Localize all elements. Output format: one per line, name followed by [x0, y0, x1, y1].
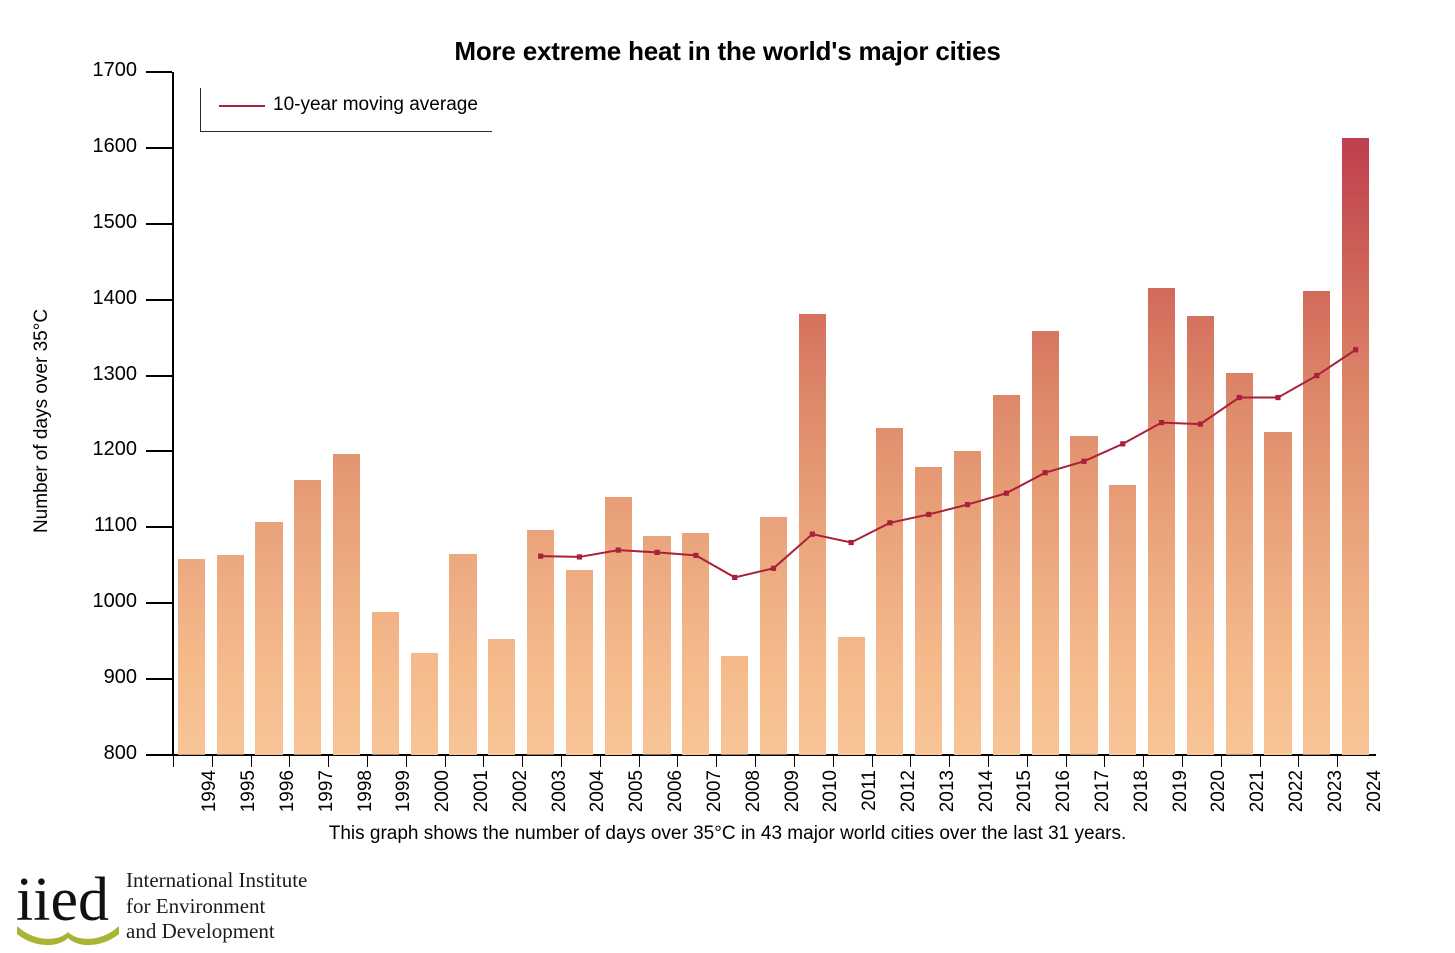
x-tick-label: 2015	[1015, 770, 1034, 812]
x-tick-mark	[1221, 756, 1222, 767]
iied-logo: iied International Institute for Environ…	[14, 862, 344, 948]
x-tick-label: 1994	[200, 770, 219, 812]
x-tick-label: 1998	[356, 770, 375, 812]
y-tick-mark	[146, 71, 172, 73]
svg-text:iied: iied	[16, 866, 109, 934]
y-tick-mark	[146, 602, 172, 604]
x-tick-mark	[872, 756, 873, 767]
x-tick-mark	[1104, 756, 1105, 767]
x-tick-label: 1996	[278, 770, 297, 812]
x-tick-mark	[600, 756, 601, 767]
y-tick-mark	[146, 147, 172, 149]
x-tick-mark	[1298, 756, 1299, 767]
x-tick-mark	[833, 756, 834, 767]
moving-average-point-2010	[810, 532, 815, 537]
y-axis-label: Number of days over 35°C	[31, 271, 53, 571]
x-tick-mark	[1143, 756, 1144, 767]
iied-logo-glyph: iied	[14, 862, 124, 948]
y-tick-mark	[146, 526, 172, 528]
x-tick-label: 2023	[1326, 770, 1345, 812]
y-tick-label: 1400	[93, 288, 138, 308]
x-tick-mark	[1337, 756, 1338, 767]
y-tick-mark	[146, 223, 172, 225]
moving-average-point-2017	[1081, 459, 1086, 464]
x-tick-label: 2008	[744, 770, 763, 812]
moving-average-point-2003	[538, 554, 543, 559]
chart-caption: This graph shows the number of days over…	[0, 823, 1455, 845]
moving-average-point-2016	[1043, 470, 1048, 475]
y-tick-label: 1500	[93, 212, 138, 232]
x-tick-label: 2016	[1054, 770, 1073, 812]
x-tick-mark	[1027, 756, 1028, 767]
x-tick-label: 2003	[550, 770, 569, 812]
x-tick-label: 1997	[317, 770, 336, 812]
iied-logo-wordmark: International Institute for Environment …	[126, 868, 307, 945]
x-tick-label: 2000	[433, 770, 452, 812]
y-tick-mark	[146, 299, 172, 301]
x-tick-label: 2001	[472, 770, 491, 812]
page-title: More extreme heat in the world's major c…	[0, 36, 1455, 67]
plot-area	[172, 72, 1375, 755]
x-tick-mark	[755, 756, 756, 767]
y-tick-label: 1000	[93, 591, 138, 611]
x-tick-mark	[639, 756, 640, 767]
x-tick-label: 2024	[1365, 770, 1384, 812]
moving-average-point-2014	[965, 502, 970, 507]
y-tick-mark	[146, 678, 172, 680]
legend: 10-year moving average	[200, 88, 492, 132]
x-tick-mark	[251, 756, 252, 767]
x-tick-label: 2014	[977, 770, 996, 812]
x-tick-label: 2006	[666, 770, 685, 812]
x-tick-label: 2005	[627, 770, 646, 812]
y-tick-mark	[146, 375, 172, 377]
x-tick-mark	[173, 756, 174, 767]
moving-average-point-2020	[1198, 422, 1203, 427]
moving-average-point-2005	[616, 548, 621, 553]
x-tick-mark	[522, 756, 523, 767]
moving-average-line	[172, 72, 1375, 755]
moving-average-polyline	[541, 350, 1356, 578]
moving-average-point-2022	[1275, 395, 1280, 400]
x-tick-label: 2018	[1132, 770, 1151, 812]
logo-line-3: and Development	[126, 919, 307, 945]
x-tick-mark	[406, 756, 407, 767]
moving-average-point-2024	[1353, 347, 1358, 352]
x-tick-label: 2011	[860, 770, 879, 811]
x-tick-label: 2010	[821, 770, 840, 812]
moving-average-point-2011	[849, 540, 854, 545]
x-tick-label: 2009	[783, 770, 802, 812]
x-tick-mark	[212, 756, 213, 767]
moving-average-point-2018	[1120, 441, 1125, 446]
y-tick-label: 900	[104, 667, 137, 687]
x-tick-label: 2004	[588, 770, 607, 812]
x-tick-label: 2002	[511, 770, 530, 812]
x-tick-mark	[910, 756, 911, 767]
x-tick-mark	[677, 756, 678, 767]
x-tick-label: 1995	[239, 770, 258, 812]
x-tick-mark	[289, 756, 290, 767]
x-tick-mark	[561, 756, 562, 767]
x-tick-label: 2017	[1093, 770, 1112, 812]
moving-average-point-2004	[577, 554, 582, 559]
x-tick-mark	[1066, 756, 1067, 767]
x-tick-mark	[716, 756, 717, 767]
moving-average-point-2023	[1314, 373, 1319, 378]
x-tick-mark	[1260, 756, 1261, 767]
y-tick-label: 1700	[93, 60, 138, 80]
x-tick-mark	[328, 756, 329, 767]
moving-average-point-2013	[926, 512, 931, 517]
moving-average-point-2009	[771, 566, 776, 571]
x-tick-label: 1999	[394, 770, 413, 812]
iied-logo-mark: iied	[14, 862, 124, 948]
y-tick-label: 1200	[93, 439, 138, 459]
moving-average-point-2008	[732, 575, 737, 580]
moving-average-point-2006	[654, 550, 659, 555]
x-tick-mark	[794, 756, 795, 767]
moving-average-point-2015	[1004, 491, 1009, 496]
y-tick-label: 1300	[93, 364, 138, 384]
moving-average-point-2019	[1159, 420, 1164, 425]
moving-average-point-2021	[1237, 395, 1242, 400]
y-tick-label: 1600	[93, 136, 138, 156]
moving-average-point-2007	[693, 553, 698, 558]
x-tick-mark	[445, 756, 446, 767]
moving-average-point-2012	[887, 520, 892, 525]
y-tick-mark	[146, 754, 172, 756]
x-tick-mark	[483, 756, 484, 767]
x-tick-label: 2022	[1287, 770, 1306, 812]
x-tick-mark	[1182, 756, 1183, 767]
logo-line-1: International Institute	[126, 868, 307, 894]
x-tick-label: 2021	[1248, 770, 1267, 812]
x-tick-mark	[949, 756, 950, 767]
legend-label: 10-year moving average	[273, 94, 478, 116]
y-tick-label: 800	[104, 743, 137, 763]
x-tick-label: 2013	[938, 770, 957, 812]
x-tick-label: 2012	[899, 770, 918, 812]
legend-line-swatch	[219, 105, 265, 107]
x-tick-label: 2019	[1171, 770, 1190, 812]
y-tick-mark	[146, 450, 172, 452]
x-tick-label: 2007	[705, 770, 724, 812]
logo-line-2: for Environment	[126, 894, 307, 920]
y-tick-label: 1100	[94, 515, 137, 535]
x-tick-label: 2020	[1209, 770, 1228, 812]
x-tick-mark	[367, 756, 368, 767]
x-tick-mark	[988, 756, 989, 767]
